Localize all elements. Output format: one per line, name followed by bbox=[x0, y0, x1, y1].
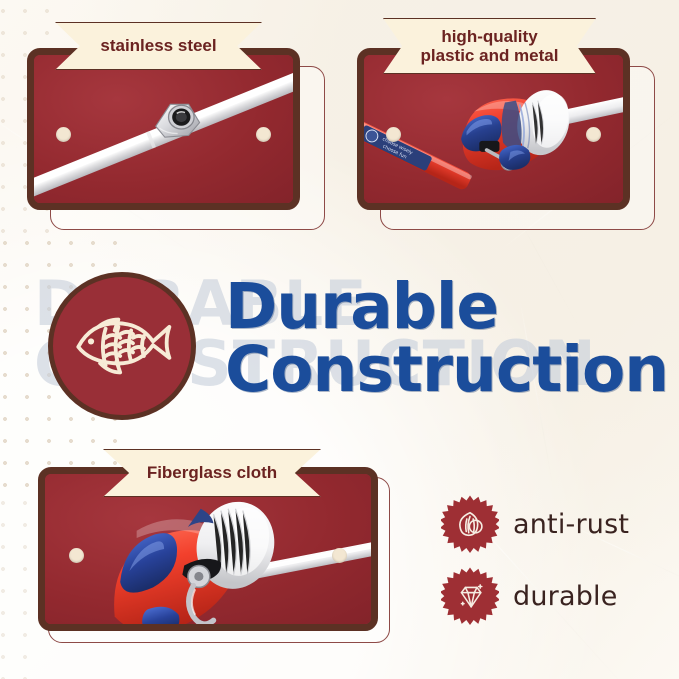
banner-high-quality-plastic-and-metal: high-quality plastic and metal bbox=[383, 18, 596, 74]
starburst-badge bbox=[441, 495, 499, 553]
infographic-canvas: DURABLE CONSTRUCTION bbox=[0, 0, 679, 679]
page-title: Durable Construction bbox=[225, 275, 668, 401]
screw-hole-left bbox=[386, 127, 401, 142]
feature-durable: durable bbox=[441, 567, 618, 625]
feature-label: durable bbox=[513, 581, 618, 612]
banner-fiberglass-cloth: Fiberglass cloth bbox=[103, 449, 321, 497]
feature-anti-rust: anti-rust bbox=[441, 495, 629, 553]
screw-hole-right bbox=[256, 127, 271, 142]
screw-hole-left bbox=[69, 548, 84, 563]
screw-hole-right bbox=[586, 127, 601, 142]
starburst-badge bbox=[441, 567, 499, 625]
diamond-gem-icon bbox=[455, 581, 486, 612]
banner-stainless-steel: stainless steel bbox=[55, 22, 262, 70]
banner-label: stainless steel bbox=[100, 36, 216, 55]
screw-hole-left bbox=[56, 127, 71, 142]
product-photo-rod-guide bbox=[34, 55, 293, 203]
banner-label-line-2: plastic and metal bbox=[421, 46, 559, 65]
fish-badge bbox=[48, 272, 196, 420]
leaf-shield-icon bbox=[455, 509, 485, 539]
banner-label-line-1: high-quality bbox=[441, 27, 537, 46]
panel-frame bbox=[27, 48, 300, 210]
screw-hole-right bbox=[332, 548, 347, 563]
dot-pattern-bottom-left bbox=[0, 492, 38, 679]
product-photo-reel-closeup: choose wisely choose fun bbox=[364, 55, 623, 203]
fish-icon bbox=[67, 305, 177, 387]
banner-label: Fiberglass cloth bbox=[147, 463, 277, 482]
title-line-2: Construction bbox=[225, 333, 668, 406]
feature-label: anti-rust bbox=[513, 509, 629, 540]
